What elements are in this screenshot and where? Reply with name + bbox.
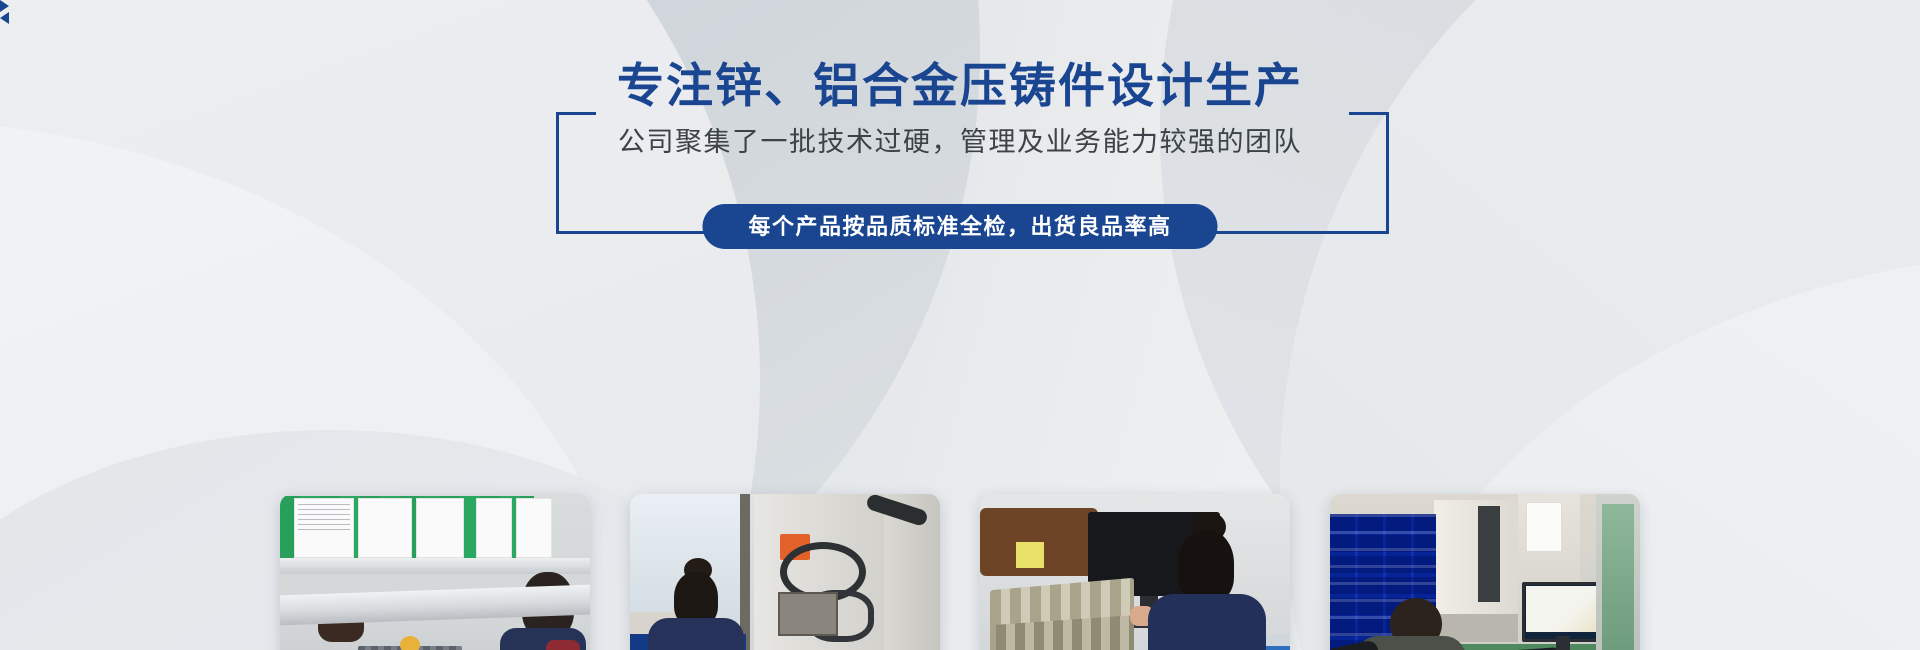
factory-photo-3: 工人在电脑旁对压铸件进行包装与质量检验: [980, 494, 1290, 650]
banner-title: 专注锌、铝合金压铸件设计生产: [0, 56, 1920, 116]
bracket-left-arrow-icon: [0, 0, 9, 12]
bracket-bottom-right-line: [1199, 231, 1389, 234]
factory-photo-4: 工人坐在蓝色零件货架旁的电脑前录入检测数据: [1330, 494, 1640, 650]
factory-photo-2: 工人操作压铸机设备，旁有橙色控制箱与液压管路: [630, 494, 940, 650]
headline-block: 专注锌、铝合金压铸件设计生产 公司聚集了一批技术过硬，管理及业务能力较强的团队 …: [0, 0, 1920, 250]
quality-badge: 每个产品按品质标准全检，出货良品率高: [702, 204, 1217, 249]
bracket-right-arrow-icon: [0, 12, 9, 24]
factory-photo-gallery: 工人在检验台旁作业，墙上张贴绿色看板与工艺图纸 工: [0, 494, 1920, 650]
banner-subtitle: 公司聚集了一批技术过硬，管理及业务能力较强的团队: [0, 122, 1920, 162]
promo-banner: 专注锌、铝合金压铸件设计生产 公司聚集了一批技术过硬，管理及业务能力较强的团队 …: [0, 0, 1920, 650]
factory-photo-1: 工人在检验台旁作业，墙上张贴绿色看板与工艺图纸: [280, 494, 590, 650]
